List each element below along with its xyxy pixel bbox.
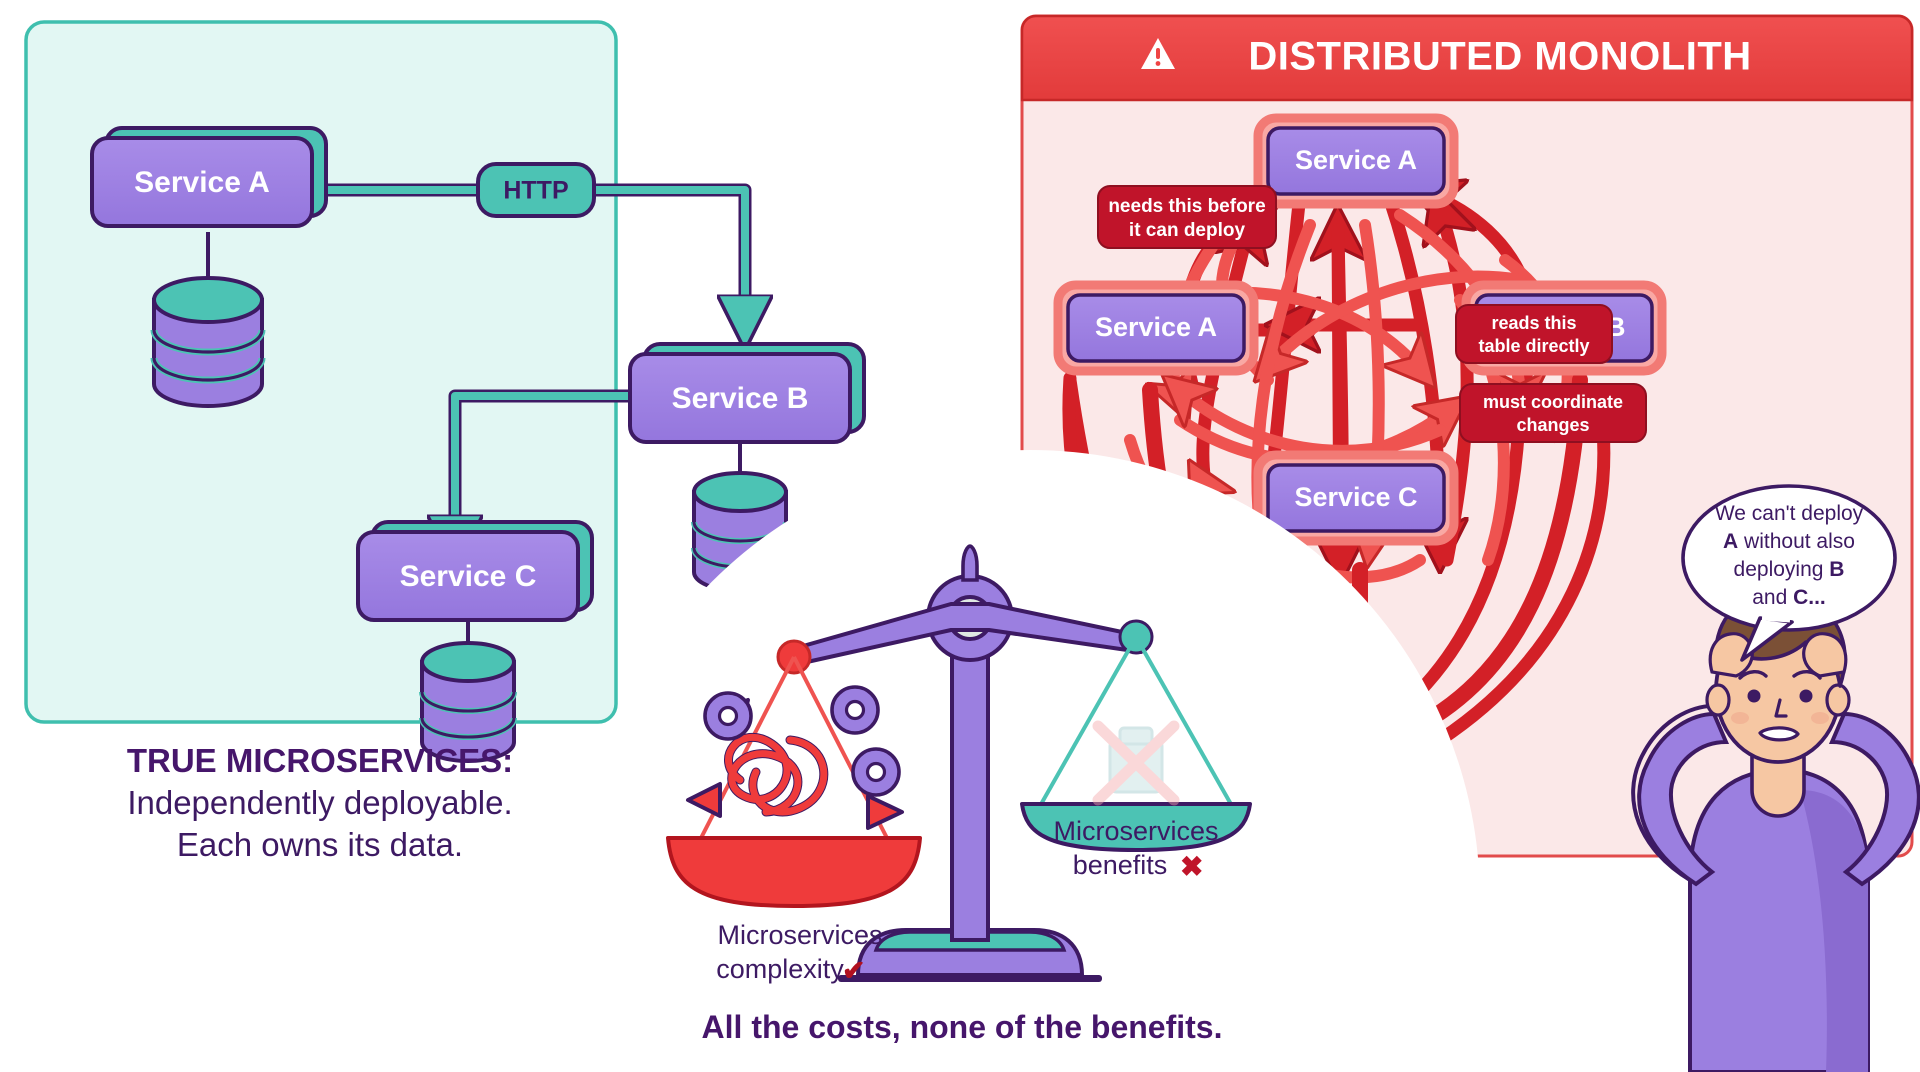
annotation-reads-table-line1: reads this (1491, 313, 1576, 333)
speech-bubble-line3: deploying B (1734, 558, 1845, 581)
left-pan-label-line1: Microservices (717, 920, 882, 950)
crossed-out-package-icon (1098, 726, 1174, 800)
annotation-reads-table-line2: table directly (1478, 336, 1589, 356)
left-node-service-c-label: Service C (400, 560, 537, 593)
annotation-must-coordinate: must coordinate changes (1460, 384, 1646, 442)
speech-bubble-line2: A without also (1723, 530, 1855, 553)
right-node-top[interactable]: Service A (1258, 118, 1454, 204)
left-pan-checkmark: ✔ (842, 955, 865, 986)
right-pan-crossmark: ✖ (1180, 851, 1203, 882)
left-caption-headline: TRUE MICROSERVICES: (127, 742, 513, 779)
http-edge-label: HTTP (478, 164, 594, 216)
annotation-needs-deploy: needs this before it can deploy (1098, 186, 1276, 248)
infographic-svg: Service A Service B Service C HTTP (0, 0, 1920, 1072)
right-node-bottom-label: Service C (1294, 482, 1417, 512)
right-node-bottom[interactable]: Service C (1258, 455, 1454, 541)
left-caption-line1: Independently deployable. (127, 784, 512, 821)
infographic-canvas: Service A Service B Service C HTTP (0, 0, 1920, 1072)
center-bottom-caption: All the costs, none of the benefits. (702, 1009, 1223, 1045)
annotation-must-coordinate-line1: must coordinate (1483, 392, 1623, 412)
left-node-service-c[interactable]: Service C (358, 522, 592, 620)
right-node-top-label: Service A (1295, 145, 1417, 175)
speech-bubble-line4: and C... (1752, 586, 1826, 609)
annotation-must-coordinate-line2: changes (1516, 415, 1589, 435)
left-node-service-b[interactable]: Service B (630, 344, 864, 442)
right-node-left[interactable]: Service A (1058, 285, 1254, 371)
left-node-service-a[interactable]: Service A (92, 128, 326, 226)
right-node-left-label: Service A (1095, 312, 1217, 342)
http-edge-label-text: HTTP (503, 177, 568, 205)
left-caption-line2: Each owns its data. (177, 826, 463, 863)
database-service-a (154, 278, 262, 406)
speech-bubble-line1: We can't deploy (1715, 502, 1864, 525)
annotation-needs-deploy-line1: needs this before (1108, 196, 1265, 217)
right-pan-label-line2: benefits (1073, 850, 1168, 880)
right-pan-label-line1: Microservices (1053, 816, 1218, 846)
left-caption: TRUE MICROSERVICES: Independently deploy… (127, 742, 513, 863)
annotation-needs-deploy-line2: it can deploy (1129, 220, 1246, 241)
left-pan-label-line2: complexity (716, 954, 844, 984)
left-node-service-b-label: Service B (672, 382, 809, 415)
annotation-reads-table: reads this table directly (1456, 305, 1612, 363)
right-panel-title: DISTRIBUTED MONOLITH (1248, 35, 1751, 79)
left-node-service-a-label: Service A (134, 166, 270, 199)
